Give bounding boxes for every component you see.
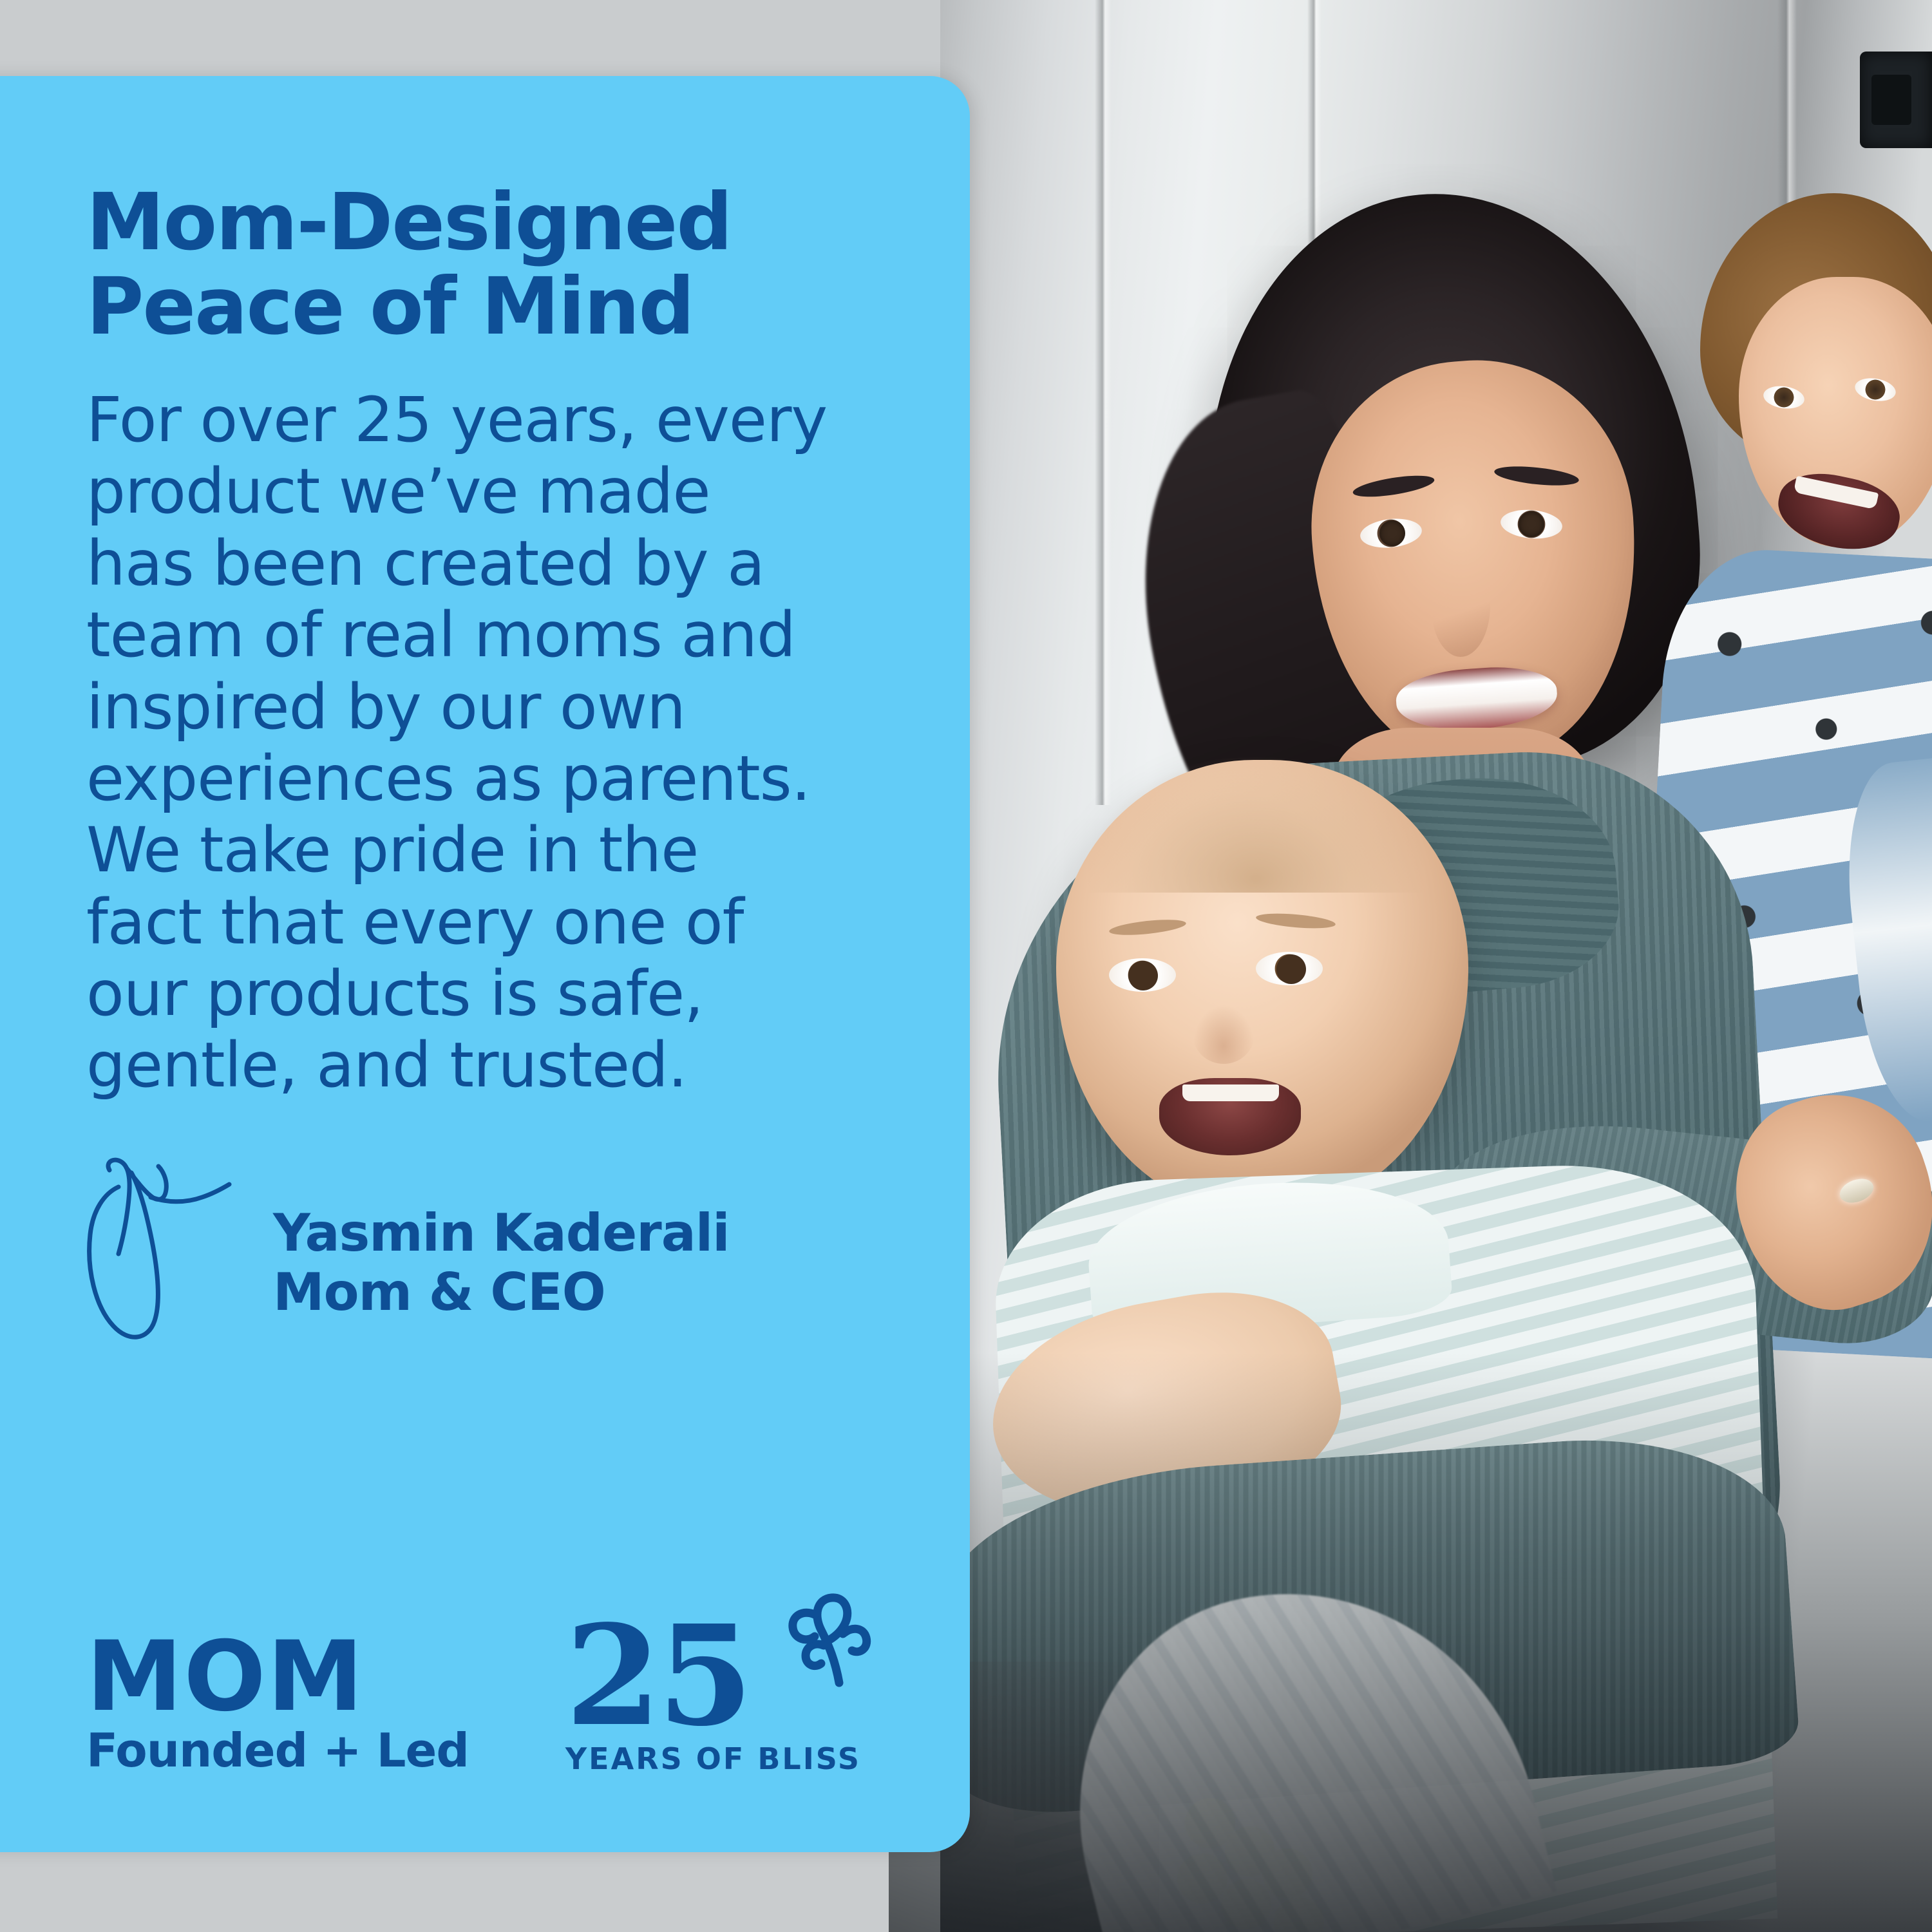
message-card: Mom-Designed Peace of Mind For over 25 y… [0,76,970,1852]
baby-teeth [1182,1084,1279,1101]
brand-lockup: MOM Founded + Led 25 YEARS OF BLISS [86,1616,861,1776]
anniversary-badge: 25 YEARS OF BLISS [565,1616,861,1776]
page-title: Mom-Designed Peace of Mind [86,76,931,348]
baby-pupil [1128,961,1158,990]
mom-logo: MOM Founded + Led [86,1633,469,1776]
mother-pupil [1379,520,1405,546]
handwritten-signature-icon [76,1148,269,1361]
signature-block: Yasmin Kaderali Mom & CEO [86,1148,931,1380]
mom-wordmark: MOM [86,1633,469,1721]
baby-nose [1193,1005,1255,1064]
baby-hair [1088,757,1423,893]
ad-creative: Mom-Designed Peace of Mind For over 25 y… [0,0,1932,1932]
badge-caption: YEARS OF BLISS [565,1741,861,1776]
signature-attribution: Yasmin Kaderali Mom & CEO [273,1204,730,1323]
wall-switch-plate [1860,52,1932,148]
bottom-shadow [940,1352,1932,1932]
mother-pupil [1519,511,1544,537]
body-paragraph: For over 25 years, every product we’ve m… [86,348,917,1102]
mother-nose [1431,554,1490,657]
baby-pupil [1276,954,1306,984]
mom-tagline: Founded + Led [86,1725,469,1776]
butterfly-icon [784,1586,880,1696]
door-seam [1095,0,1112,805]
